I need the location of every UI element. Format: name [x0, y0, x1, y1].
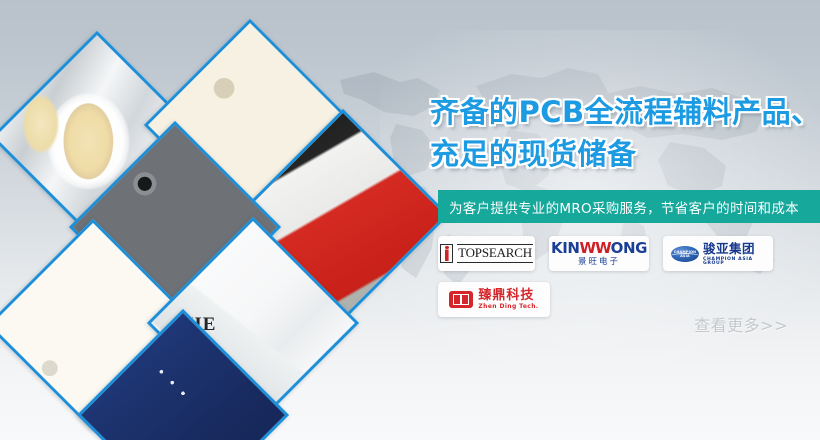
- kinwong-label-w: WW: [580, 239, 611, 257]
- headline-line-2: 充足的现货储备: [430, 138, 820, 170]
- subtitle-bar: 为客户提供专业的MRO采购服务，节省客户的时间和成本: [438, 190, 820, 223]
- kinwong-label-b: ONG: [611, 239, 647, 257]
- view-more-link[interactable]: 查看更多>>: [694, 312, 788, 336]
- topsearch-label: TOPSEARCH: [457, 244, 533, 262]
- topsearch-mark-icon: [440, 244, 453, 263]
- champion-asia-label-en: CHAMPION ASIA GROUP: [703, 258, 765, 267]
- product-collage: JIE: [0, 0, 440, 440]
- zhen-ding-mark-icon: [449, 291, 473, 308]
- headline-line-1: 齐备的PCB全流程辅料产品、: [430, 96, 820, 128]
- champion-asia-label-cn: 骏亚集团: [703, 241, 755, 256]
- kinwong-label-cn: 景旺电子: [551, 258, 647, 267]
- hero-banner: JIE 齐备的PCB全流程辅料产品、 充足的现货储备 为客户提供专业的MRO采购…: [0, 0, 820, 440]
- zhen-ding-label-en: Zhen Ding Tech.: [478, 304, 538, 310]
- kinwong-wordmark-icon: KINWWONG 景旺电子: [551, 240, 647, 267]
- banner-content: 齐备的PCB全流程辅料产品、 充足的现货储备 为客户提供专业的MRO采购服务，节…: [430, 0, 820, 440]
- zhen-ding-label-cn: 臻鼎科技: [478, 289, 538, 302]
- client-logo-zhen-ding[interactable]: 臻鼎科技 Zhen Ding Tech.: [438, 282, 550, 317]
- client-logo-kinwong[interactable]: KINWWONG 景旺电子: [549, 236, 649, 271]
- client-logo-champion-asia[interactable]: 骏亚集团 CHAMPION ASIA GROUP: [663, 236, 773, 271]
- subtitle-text: 为客户提供专业的MRO采购服务，节省客户的时间和成本: [449, 197, 799, 217]
- champion-asia-globe-icon: [671, 246, 699, 262]
- client-logo-topsearch[interactable]: TOPSEARCH: [438, 236, 535, 271]
- kinwong-label-a: KIN: [551, 239, 580, 257]
- client-logo-row-1: TOPSEARCH KINWWONG 景旺电子 骏亚: [438, 236, 820, 271]
